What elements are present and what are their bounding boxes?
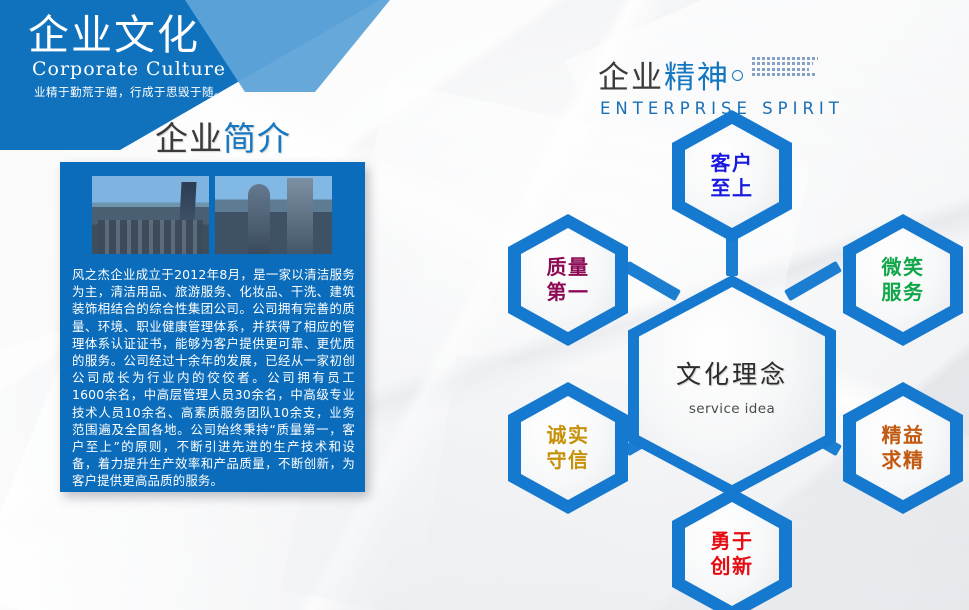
banner-text-group: 企业文化 Corporate Culture 业精于勤荒于嬉，行成于思毁于随。 bbox=[28, 10, 328, 100]
banner-title-en: Corporate Culture bbox=[28, 58, 328, 80]
page-title-intro: 企业简介 bbox=[155, 112, 291, 160]
hex-label-line1: 客户 bbox=[711, 151, 754, 176]
hex-node-integrity[interactable]: 诚实 守信 bbox=[508, 382, 628, 514]
hex-label-line2: 求精 bbox=[882, 448, 925, 473]
intro-heading-blue: 简介 bbox=[223, 119, 291, 158]
hex-node-customer-first[interactable]: 客户 至上 bbox=[672, 110, 792, 242]
photo-strip bbox=[92, 176, 332, 254]
company-intro-card: 风之杰企业成立于2012年8月，是一家以清洁服务为主，清洁用品、旅游服务、化妆品… bbox=[60, 162, 365, 492]
spirit-heading-blue: 精神 bbox=[664, 60, 730, 96]
banner-title-cn: 企业文化 bbox=[28, 10, 328, 60]
center-title-cn: 文化理念 bbox=[676, 355, 788, 391]
hex-label-line2: 创新 bbox=[711, 554, 754, 579]
company-intro-text: 风之杰企业成立于2012年8月，是一家以清洁服务为主，清洁用品、旅游服务、化妆品… bbox=[72, 266, 355, 490]
hex-node-smile-service[interactable]: 微笑 服务 bbox=[843, 214, 963, 346]
intro-heading-dark: 企业 bbox=[155, 119, 223, 158]
hex-label-line2: 第一 bbox=[547, 280, 590, 305]
center-title-en: service idea bbox=[689, 401, 775, 417]
hex-node-excellence[interactable]: 精益 求精 bbox=[843, 382, 963, 514]
hex-center-culture-idea[interactable]: 文化理念 service idea bbox=[628, 275, 836, 497]
hex-label-line1: 勇于 bbox=[711, 529, 754, 554]
hex-label-line2: 服务 bbox=[882, 280, 925, 305]
spirit-dot-icon bbox=[732, 70, 743, 81]
spirit-heading-dark: 企业 bbox=[598, 60, 664, 96]
poster-canvas: 企业文化 Corporate Culture 业精于勤荒于嬉，行成于思毁于随。 … bbox=[0, 0, 969, 610]
banner-motto: 业精于勤荒于嬉，行成于思毁于随。 bbox=[28, 84, 328, 100]
hex-node-quality-first[interactable]: 质量 第一 bbox=[508, 214, 628, 346]
hex-label-line1: 诚实 bbox=[547, 423, 590, 448]
hex-label-line1: 微笑 bbox=[882, 255, 925, 280]
culture-hexagon-diagram: 文化理念 service idea 客户 至上 微笑 服务 精益 求精 bbox=[495, 110, 969, 610]
hex-label-line2: 守信 bbox=[547, 448, 590, 473]
hex-label-line2: 至上 bbox=[711, 176, 754, 201]
hex-label-line1: 精益 bbox=[882, 423, 925, 448]
city-photo-2 bbox=[215, 176, 332, 254]
hex-node-innovation[interactable]: 勇于 创新 bbox=[672, 488, 792, 610]
hex-label-line1: 质量 bbox=[547, 255, 590, 280]
decorative-microtext bbox=[752, 57, 818, 79]
city-photo-1 bbox=[92, 176, 209, 254]
